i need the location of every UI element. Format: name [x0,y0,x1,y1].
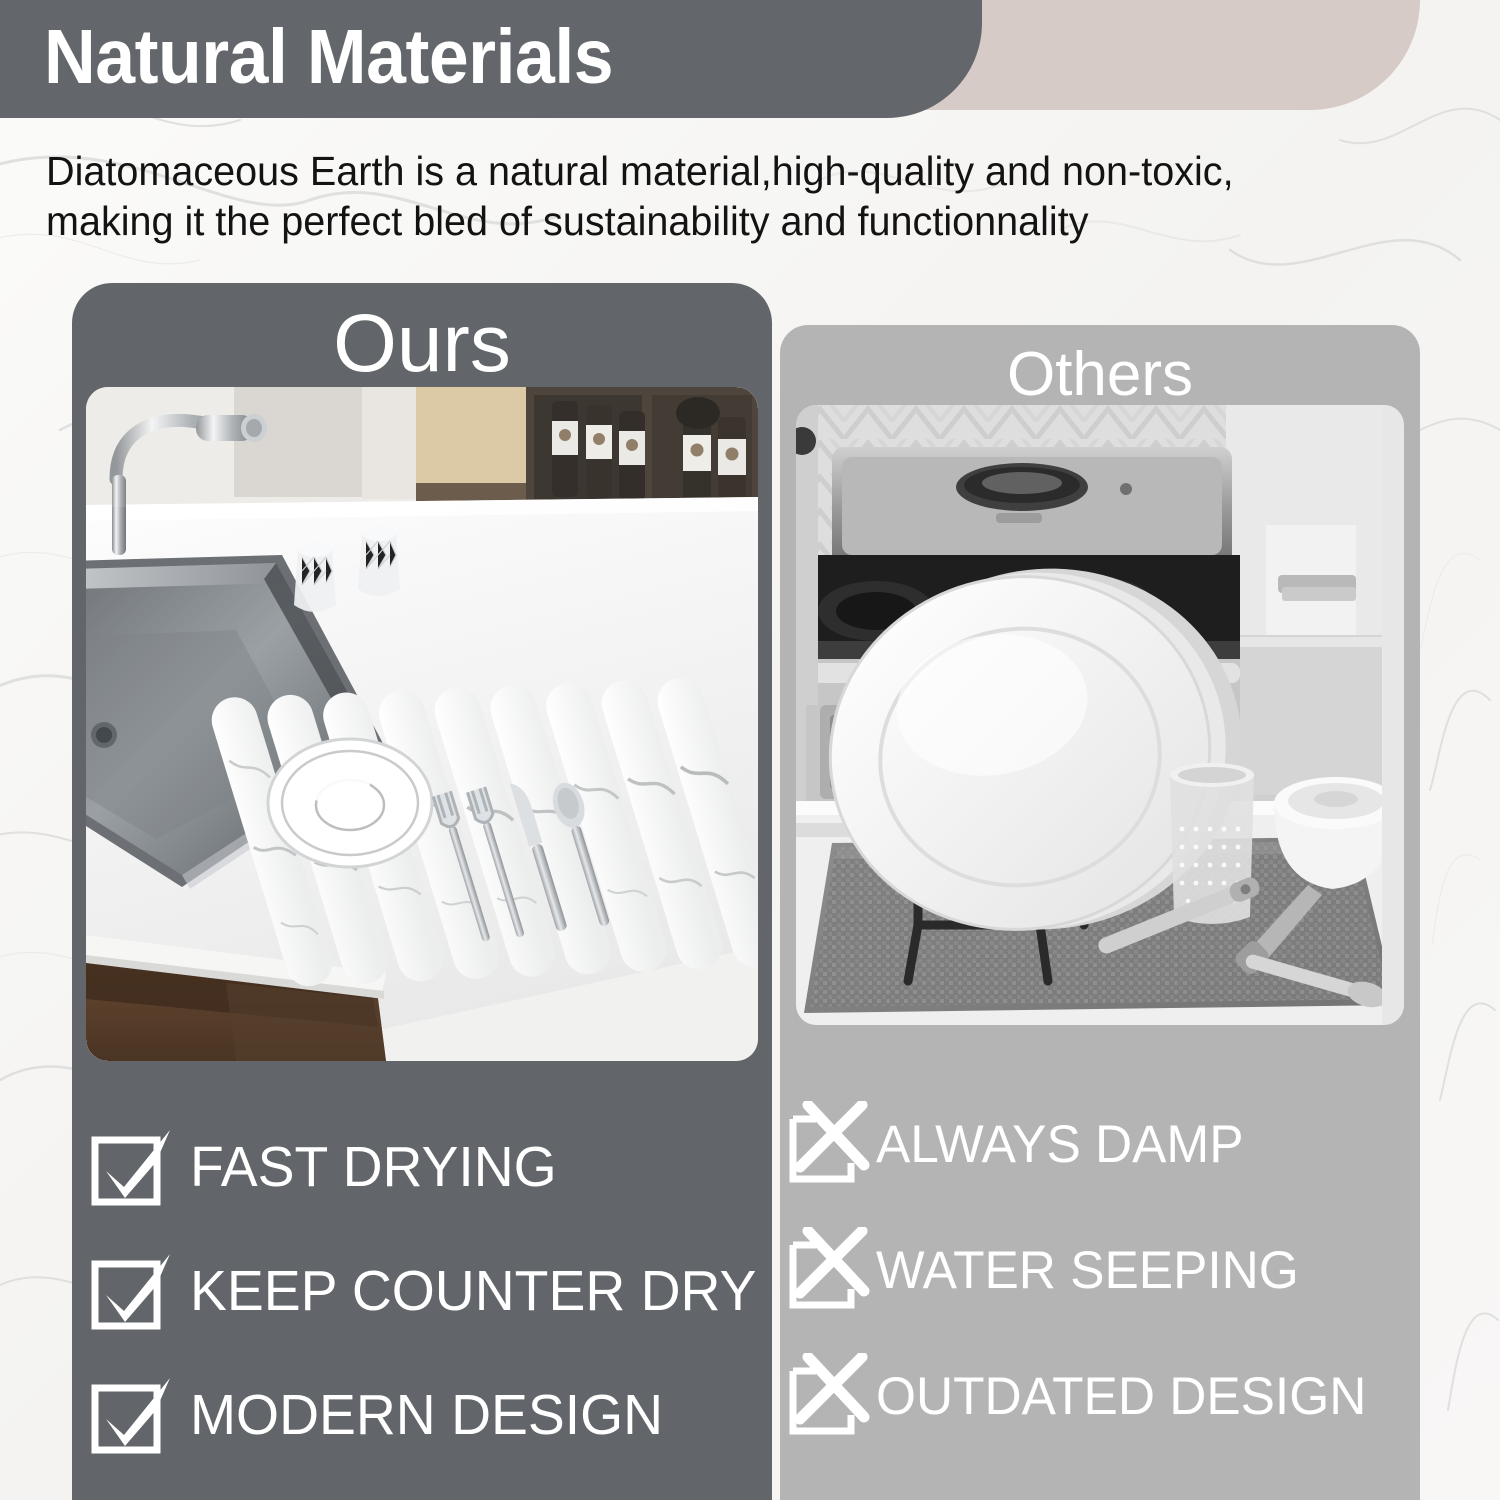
checkbox-check-icon [90,1124,176,1210]
feature-label: ALWAYS DAMP [876,1114,1244,1175]
page-title: Natural Materials [44,13,613,102]
checkbox-x-icon [788,1227,874,1313]
subtitle-line-1: Diatomaceous Earth is a natural material… [46,146,1416,196]
checkbox-x-icon [788,1101,874,1187]
panel-title-others: Others [780,339,1420,410]
comparison-panel-ours: Ours [72,283,772,1500]
subtitle-line-2: making it the perfect bled of sustainabi… [46,196,1416,246]
feature-label: MODERN DESIGN [190,1382,663,1448]
header-band: Natural Materials [0,0,982,118]
comparison-panel-others: Others [780,325,1420,1500]
feature-list-others: ALWAYS DAMP WATER SEEPING [780,1081,1420,1459]
feature-label: KEEP COUNTER DRY [190,1258,756,1324]
panel-title-ours: Ours [72,297,772,391]
feature-item: KEEP COUNTER DRY [90,1229,772,1353]
feature-label: FAST DRYING [190,1134,557,1200]
checkbox-x-icon [788,1353,874,1439]
feature-item: WATER SEEPING [788,1207,1420,1333]
feature-label: WATER SEEPING [876,1240,1299,1301]
feature-item: MODERN DESIGN [90,1353,772,1477]
feature-item: FAST DRYING [90,1105,772,1229]
product-photo-ours [86,387,758,1061]
product-photo-others [796,405,1404,1025]
checkbox-check-icon [90,1372,176,1458]
feature-item: OUTDATED DESIGN [788,1333,1420,1459]
checkbox-check-icon [90,1248,176,1334]
subtitle: Diatomaceous Earth is a natural material… [46,146,1416,246]
feature-item: ALWAYS DAMP [788,1081,1420,1207]
feature-list-ours: FAST DRYING KEEP COUNTER DRY MODERN DESI… [72,1105,772,1477]
feature-label: OUTDATED DESIGN [876,1366,1366,1427]
